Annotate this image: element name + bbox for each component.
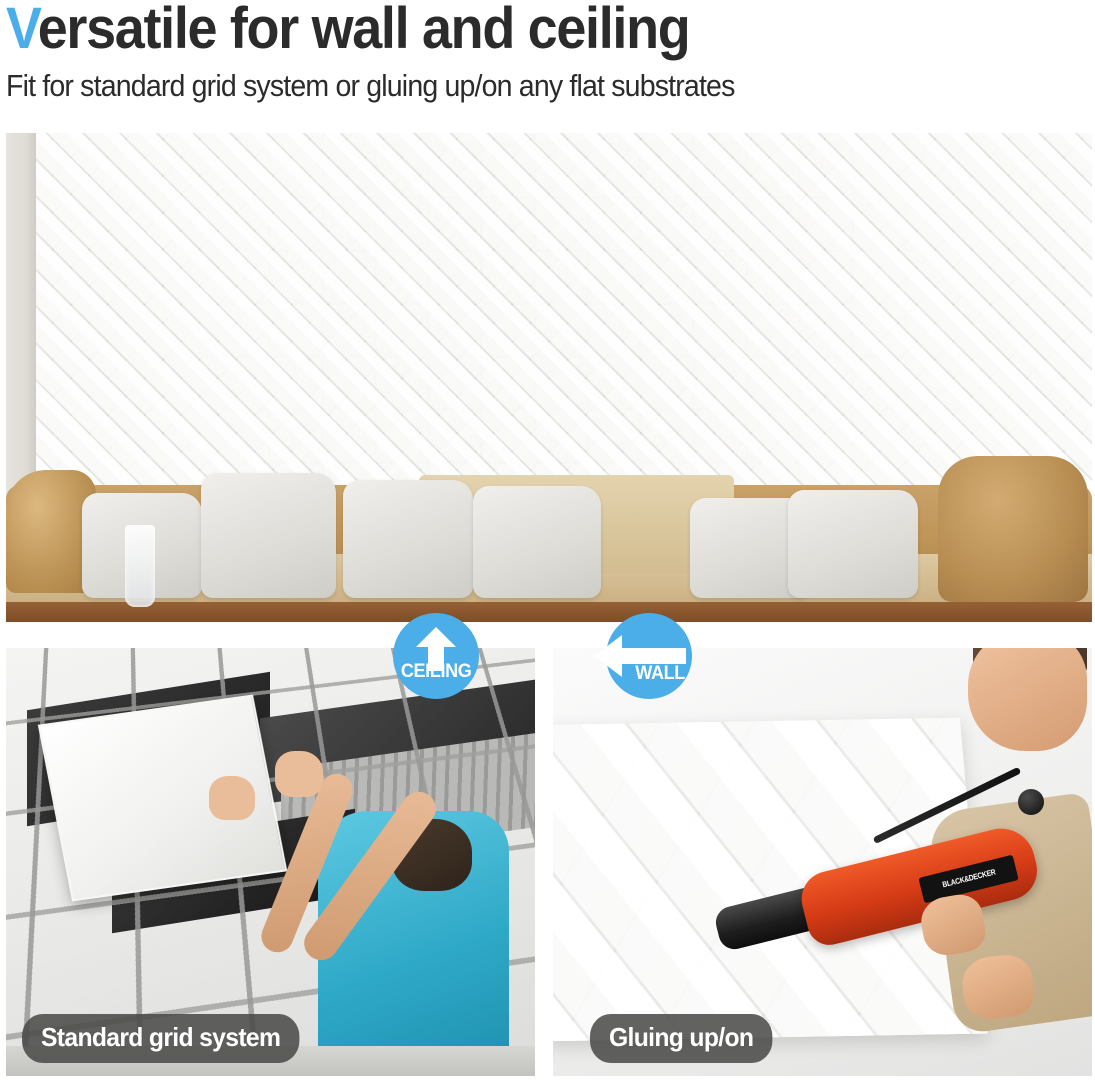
ceiling-scene [6,648,535,1076]
pillow [788,490,918,598]
header: Versatile for wall and ceiling Fit for s… [0,0,1095,120]
page-subtitle: Fit for standard grid system or gluing u… [6,68,735,104]
badge-ceiling-label: CEILING [401,661,472,683]
crystal-glass [125,525,155,607]
panel-standard-grid-system [6,648,535,1076]
pillow [343,480,473,598]
pillow [473,486,601,598]
badge-wall-label: WALL [635,663,685,685]
person-head [968,648,1087,751]
pillow [201,473,336,598]
badge-wall: WALL [606,613,692,699]
hero-image-wall-panels [6,133,1092,622]
page-title: Versatile for wall and ceiling [6,0,689,60]
badge-ceiling: CEILING [393,613,479,699]
headline-accent-letter: V [6,0,38,61]
gluing-scene: BLACK&DECKER [553,648,1092,1076]
worker-hand [275,751,323,797]
person-hand [960,953,1036,1022]
worker-hand [209,776,255,820]
diamond-facet-texture [6,133,1092,514]
panel-gluing-up-on: BLACK&DECKER [553,648,1092,1076]
sofa-arm-right [938,456,1088,603]
headline-rest: ersatile for wall and ceiling [38,0,690,61]
tool-brand-label: BLACK&DECKER [941,868,996,890]
caulk-gun-plunger-knob [1018,789,1044,815]
caption-standard-grid-system: Standard grid system [22,1014,299,1063]
product-feature-image: Versatile for wall and ceiling Fit for s… [0,0,1095,1081]
caption-gluing-up-on: Gluing up/on [590,1014,772,1063]
side-wall [6,133,36,514]
wall-surface [6,133,1092,514]
